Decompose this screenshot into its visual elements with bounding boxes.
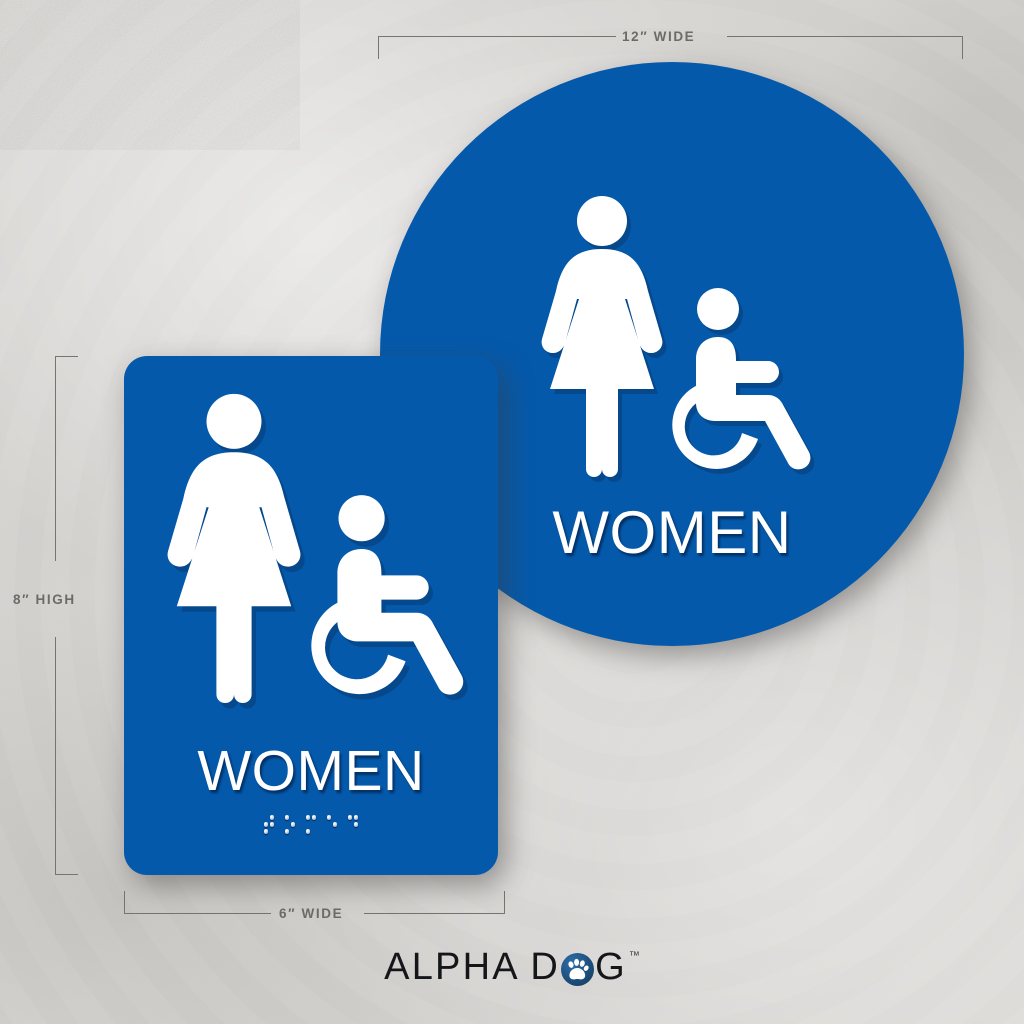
braille-label [124, 814, 498, 835]
braille-cell-o [284, 814, 296, 835]
rectangular-restroom-sign[interactable]: WOMEN [124, 356, 498, 875]
braille-cell-m [305, 814, 317, 835]
paw-print-icon [561, 953, 594, 986]
brand-logo: ALPHA D G ™ [0, 946, 1024, 989]
dimension-left-label: 8″ HIGH [13, 592, 76, 607]
braille-cell-w [263, 814, 275, 835]
braille-cell-n [347, 814, 359, 835]
dimension-top-label: 12″ WIDE [622, 29, 695, 44]
trademark-symbol: ™ [629, 950, 640, 962]
rect-sign-label: WOMEN [124, 738, 498, 804]
brand-word-alpha-d: ALPHA D [384, 946, 560, 989]
dimension-bottom-label: 6″ WIDE [279, 906, 343, 921]
rect-sign-pictograms [146, 384, 476, 714]
circle-sign-pictograms [522, 187, 822, 487]
braille-cell-e [326, 814, 338, 835]
brand-word-g: G [595, 946, 627, 989]
